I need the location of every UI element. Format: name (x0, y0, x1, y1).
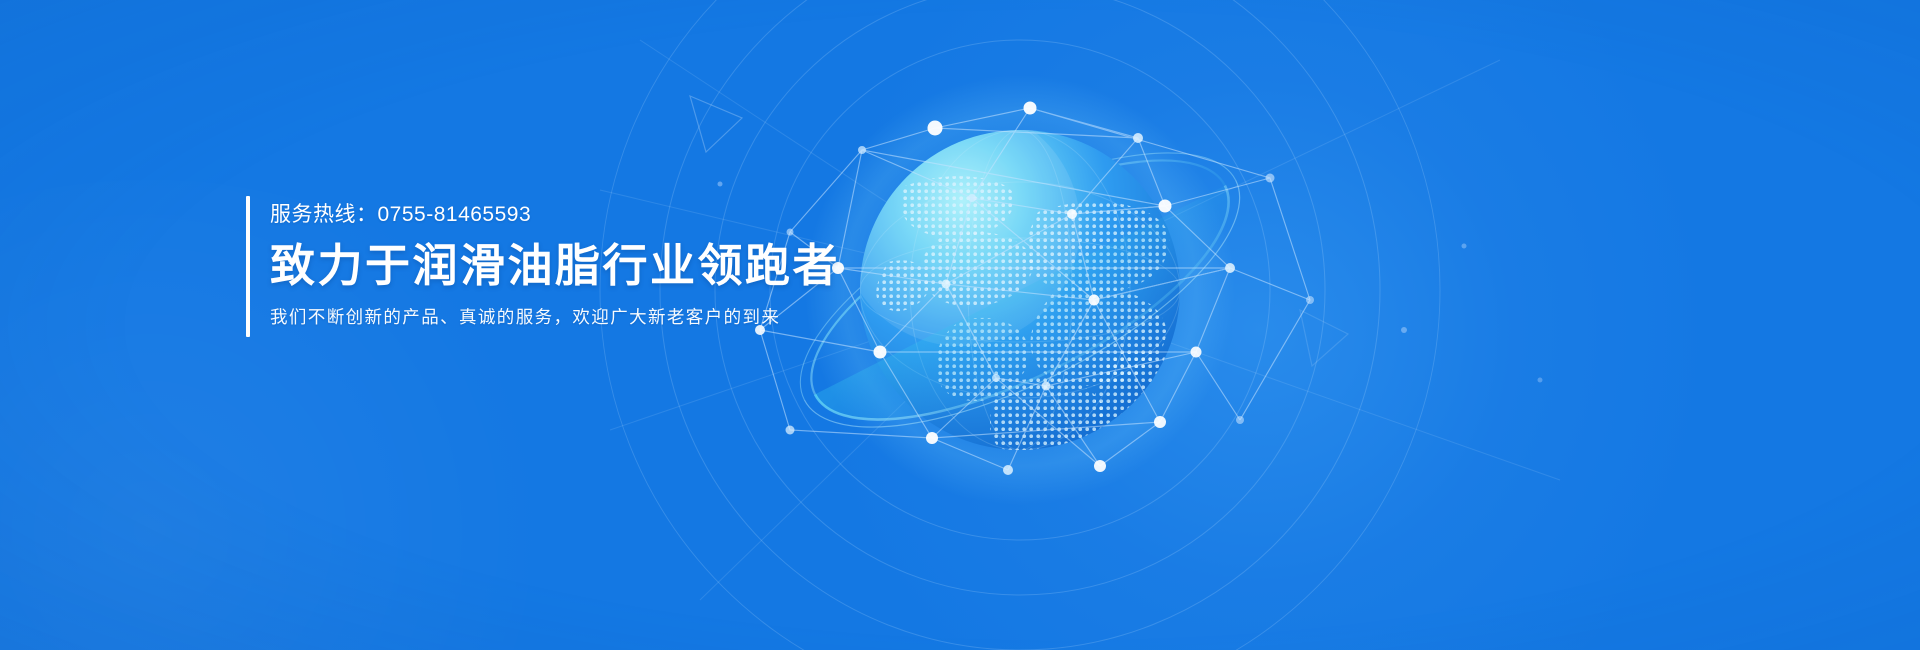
hero-text-lines: 服务热线：0755-81465593 致力于润滑油脂行业领跑者 我们不断创新的产… (270, 196, 840, 337)
hero-copy-block: 服务热线：0755-81465593 致力于润滑油脂行业领跑者 我们不断创新的产… (246, 196, 840, 337)
hero-banner: 服务热线：0755-81465593 致力于润滑油脂行业领跑者 我们不断创新的产… (0, 0, 1920, 650)
page-title: 致力于润滑油脂行业领跑者 (270, 239, 840, 292)
background-glow-right (760, 0, 1760, 650)
page-subtitle: 我们不断创新的产品、真诚的服务，欢迎广大新老客户的到来 (270, 307, 840, 328)
service-hotline: 服务热线：0755-81465593 (270, 203, 840, 226)
accent-bar (246, 196, 250, 337)
